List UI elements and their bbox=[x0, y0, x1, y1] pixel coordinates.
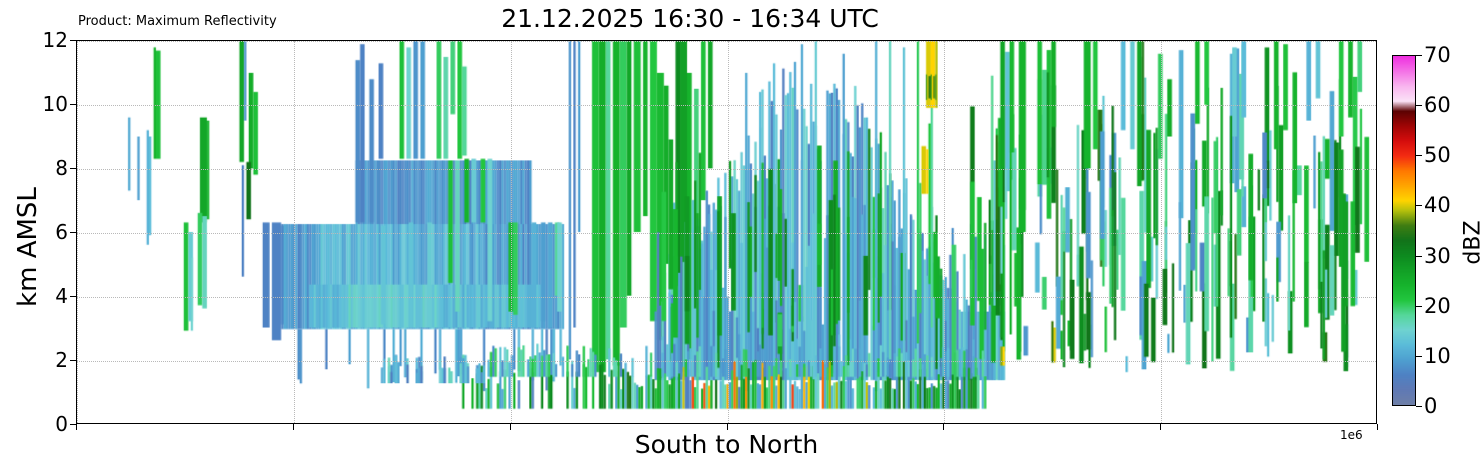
colorbar-tick-label: 30 bbox=[1424, 244, 1451, 268]
chart-title: 21.12.2025 16:30 - 16:34 UTC bbox=[0, 4, 1380, 33]
colorbar-tick-label: 0 bbox=[1424, 394, 1437, 418]
colorbar-tick-mark bbox=[1416, 356, 1422, 357]
y-axis-tick-marks bbox=[0, 40, 76, 424]
x-axis-label: South to North bbox=[76, 430, 1377, 459]
colorbar-tick-label: 50 bbox=[1424, 143, 1451, 167]
reflectivity-heatmap bbox=[77, 41, 1376, 423]
colorbar-tick-label: 10 bbox=[1424, 344, 1451, 368]
x-axis-offset-text: 1e6 bbox=[1340, 428, 1363, 442]
radar-cross-section-figure: Product: Maximum Reflectivity 21.12.2025… bbox=[0, 0, 1482, 470]
colorbar-gradient bbox=[1393, 56, 1415, 405]
colorbar bbox=[1392, 55, 1416, 406]
colorbar-tick-mark bbox=[1416, 256, 1422, 257]
x-tick-mark bbox=[1377, 424, 1378, 430]
colorbar-tick-mark bbox=[1416, 55, 1422, 56]
plot-area[interactable] bbox=[76, 40, 1377, 424]
colorbar-tick-label: 40 bbox=[1424, 193, 1451, 217]
colorbar-axis-label: dBZ bbox=[1461, 163, 1482, 323]
colorbar-tick-mark bbox=[1416, 306, 1422, 307]
colorbar-tick-mark bbox=[1416, 406, 1422, 407]
colorbar-tick-label: 70 bbox=[1424, 43, 1451, 67]
colorbar-tick-mark bbox=[1416, 155, 1422, 156]
colorbar-tick-label: 20 bbox=[1424, 294, 1451, 318]
colorbar-tick-label: 60 bbox=[1424, 93, 1451, 117]
colorbar-tick-mark bbox=[1416, 205, 1422, 206]
colorbar-tick-mark bbox=[1416, 105, 1422, 106]
